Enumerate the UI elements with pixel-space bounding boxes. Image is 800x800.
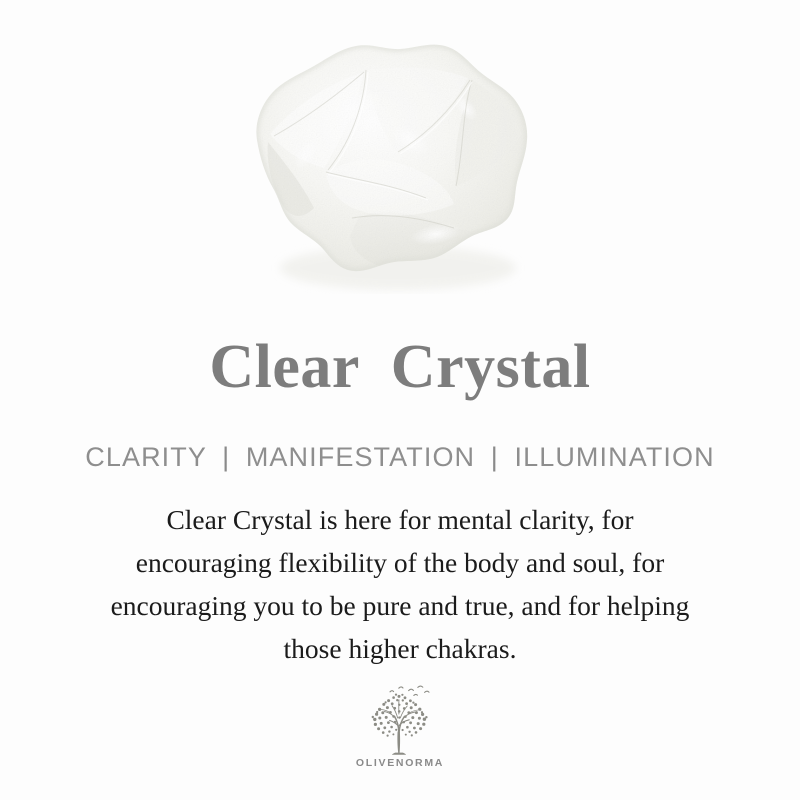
keyword-separator-1: |: [215, 442, 237, 472]
product-title: Clear Crystal: [0, 336, 800, 398]
tree-with-birds-icon: [361, 684, 439, 756]
keyword-clarity: CLARITY: [85, 442, 206, 472]
product-description: Clear Crystal is here for mental clarity…: [50, 498, 750, 670]
keyword-manifestation: MANIFESTATION: [246, 442, 475, 472]
keyword-separator-2: |: [484, 442, 506, 472]
description-line: encouraging flexibility of the body and …: [50, 541, 750, 584]
clear-crystal-raw-stone-icon: [240, 22, 550, 294]
product-image-area: [0, 0, 800, 300]
product-keywords: CLARITY | MANIFESTATION | ILLUMINATION: [0, 441, 800, 473]
keyword-illumination: ILLUMINATION: [515, 442, 715, 472]
description-line: Clear Crystal is here for mental clarity…: [50, 498, 750, 541]
description-line: those higher chakras.: [50, 627, 750, 670]
brand-name: OLIVENORMA: [356, 757, 444, 769]
description-line: encouraging you to be pure and true, and…: [50, 584, 750, 627]
brand-logo: OLIVENORMA: [0, 684, 800, 769]
product-info-card: Clear Crystal CLARITY | MANIFESTATION | …: [0, 0, 800, 800]
